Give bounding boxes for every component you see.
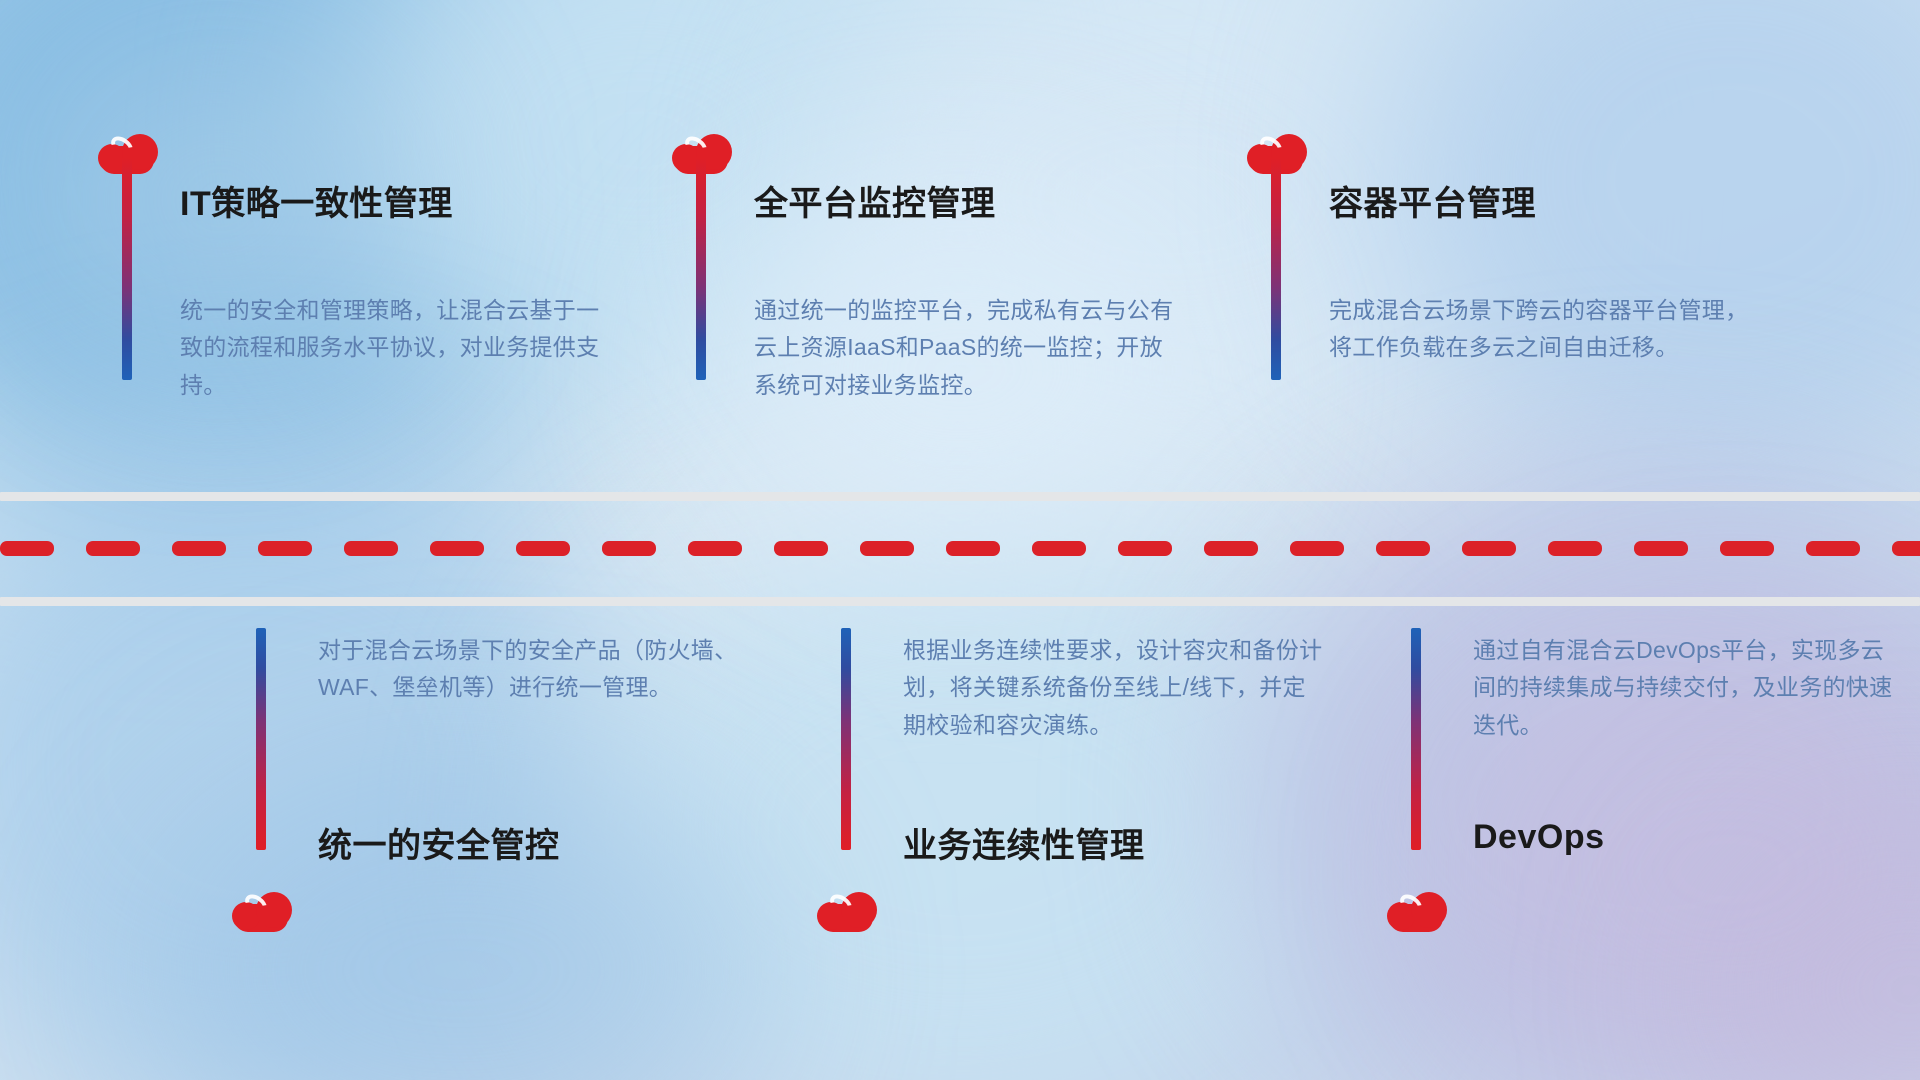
bottom-item-1: 对于混合云场景下的安全产品（防火墙、WAF、堡垒机等）进行统一管理。 统一的安全… (190, 0, 810, 1080)
bottom-item-3-body: 通过自有混合云DevOps平台，实现多云间的持续集成与持续交付，及业务的快速迭代… (1473, 632, 1893, 744)
road-dash (86, 541, 140, 556)
bottom-item-2: 根据业务连续性要求，设计容灾和备份计划，将关键系统备份至线上/线下，并定期校验和… (775, 0, 1395, 1080)
pin-stem (256, 628, 266, 850)
cloud-pin-icon (1385, 888, 1447, 932)
cloud-pin-icon (815, 888, 877, 932)
pin-stem (122, 158, 132, 380)
road-dash (0, 541, 54, 556)
bottom-item-3: 通过自有混合云DevOps平台，实现多云间的持续集成与持续交付，及业务的快速迭代… (1345, 0, 1920, 1080)
pin-stem (841, 628, 851, 850)
bottom-item-1-body: 对于混合云场景下的安全产品（防火墙、WAF、堡垒机等）进行统一管理。 (318, 632, 738, 707)
bottom-item-2-title: 业务连续性管理 (903, 818, 1145, 867)
bottom-item-2-body: 根据业务连续性要求，设计容灾和备份计划，将关键系统备份至线上/线下，并定期校验和… (903, 632, 1323, 744)
cloud-pin-icon (230, 888, 292, 932)
bottom-item-3-title: DevOps (1473, 818, 1605, 857)
pin-stem (1411, 628, 1421, 850)
bottom-item-1-title: 统一的安全管控 (318, 818, 560, 867)
